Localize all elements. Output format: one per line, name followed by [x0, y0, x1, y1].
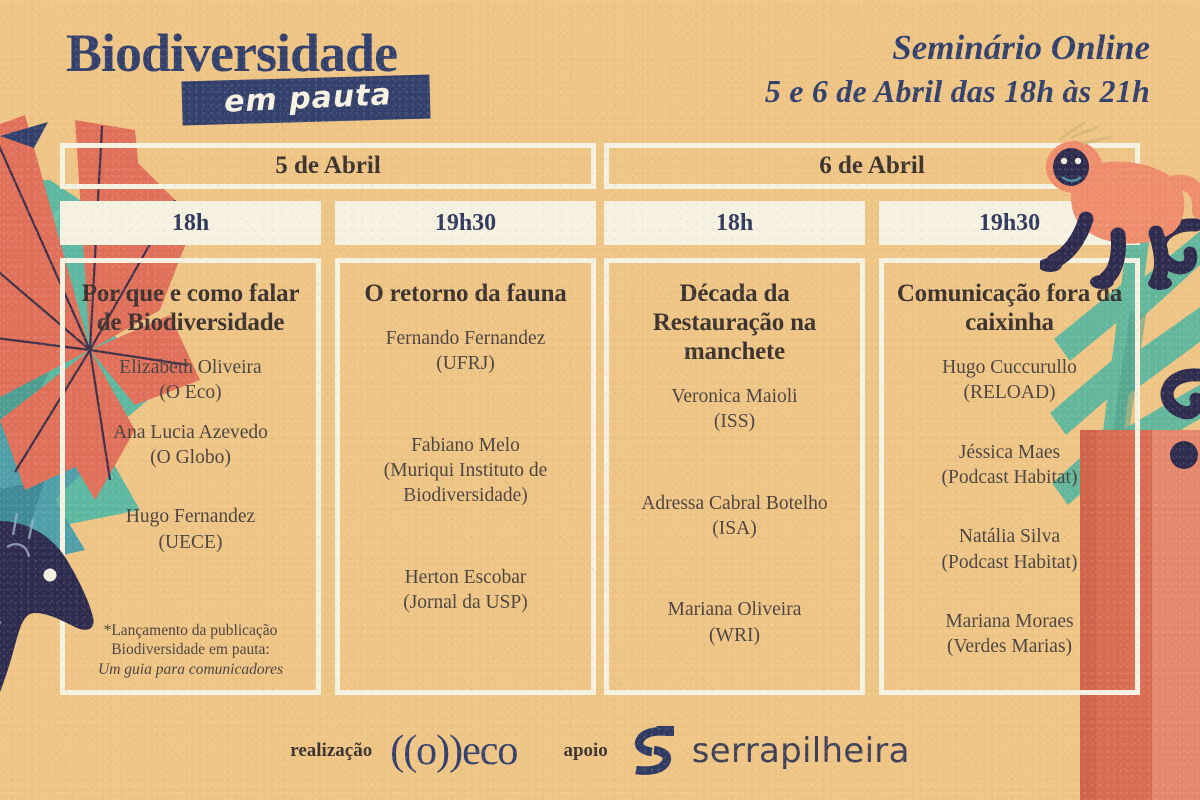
session-slot-1[interactable]: 18h Por que e como falar de Biodiversida… — [60, 201, 321, 695]
time-header: 19h30 — [879, 201, 1140, 245]
list-item: Veronica Maioli (ISS) — [621, 384, 848, 435]
date-header-2: 6 de Abril — [604, 143, 1140, 189]
speaker-list: Veronica Maioli (ISS) Adressa Cabral Bot… — [621, 384, 848, 680]
speaker-affiliation: (WRI) — [621, 623, 848, 648]
list-item: Fabiano Melo (Muriqui Instituto de Biodi… — [352, 433, 579, 509]
date-label: 6 de Abril — [819, 152, 925, 180]
speaker-affiliation: (Muriqui Instituto de Biodiversidade) — [352, 458, 579, 509]
speaker-name: Mariana Oliveira — [668, 599, 802, 620]
speaker-name: Natália Silva — [959, 526, 1060, 547]
session-slot-3[interactable]: 18h Década da Restauração na manchete Ve… — [604, 201, 865, 695]
apoio-group: apoio serrapilheira — [563, 722, 909, 780]
session-title: O retorno da fauna — [352, 279, 579, 308]
speaker-affiliation: (O Globo) — [77, 445, 304, 470]
time-label: 19h30 — [979, 210, 1040, 237]
speaker-affiliation: (Jornal da USP) — [352, 590, 579, 615]
list-item: Herton Escobar (Jornal da USP) — [352, 565, 579, 616]
speaker-affiliation: (ISS) — [621, 409, 848, 434]
footnote-line-2: Biodiversidade em pauta: — [111, 641, 269, 658]
day-column-1: 5 de Abril 18h Por que e como falar de B… — [60, 143, 596, 189]
session-slot-4[interactable]: 19h30 Comunicação fora da caixinha Hugo … — [879, 201, 1140, 695]
speaker-name: Herton Escobar — [405, 567, 527, 588]
realizacao-label: realização — [290, 740, 372, 762]
speaker-name: Ana Lucia Azevedo — [113, 422, 268, 443]
speaker-affiliation: (Podcast Habitat) — [896, 465, 1123, 490]
speaker-name: Veronica Maioli — [671, 386, 797, 407]
speaker-name: Elizabeth Oliveira — [119, 357, 261, 378]
speaker-list: Elizabeth Oliveira (O Eco) Ana Lucia Aze… — [77, 355, 304, 680]
speaker-name: Fabiano Melo — [411, 435, 520, 456]
date-label: 5 de Abril — [275, 152, 381, 180]
seminar-type: Seminário Online — [765, 26, 1150, 70]
list-item: Jéssica Maes (Podcast Habitat) — [896, 440, 1123, 491]
list-item: Ana Lucia Azevedo (O Globo) — [77, 420, 304, 471]
apoio-label: apoio — [563, 740, 607, 762]
time-header: 18h — [604, 201, 865, 245]
speaker-list: Fernando Fernandez (UFRJ) Fabiano Melo (… — [352, 326, 579, 680]
speaker-affiliation: (UECE) — [77, 530, 304, 555]
session-card[interactable]: Por que e como falar de Biodiversidade E… — [60, 258, 321, 695]
day-column-2: 6 de Abril 18h Década da Restauração na … — [604, 143, 1140, 189]
session-title: Comunicação fora da caixinha — [896, 279, 1123, 337]
session-title: Década da Restauração na manchete — [621, 279, 848, 366]
speaker-affiliation: (UFRJ) — [352, 351, 579, 376]
oeco-logo[interactable]: ((o))eco — [390, 730, 517, 772]
time-label: 19h30 — [435, 210, 496, 237]
list-item: Mariana Oliveira (WRI) — [621, 597, 848, 648]
speaker-name: Adressa Cabral Botelho — [641, 493, 827, 514]
session-card[interactable]: Comunicação fora da caixinha Hugo Cuccur… — [879, 258, 1140, 695]
time-label: 18h — [716, 210, 753, 237]
date-header-1: 5 de Abril — [60, 143, 596, 189]
session-card[interactable]: Década da Restauração na manchete Veroni… — [604, 258, 865, 695]
schedule-grid: 5 de Abril 18h Por que e como falar de B… — [0, 143, 1200, 703]
footnote-line-1: *Lançamento da publicação — [104, 622, 278, 639]
speaker-name: Mariana Moraes — [945, 611, 1073, 632]
speaker-affiliation: (Verdes Marias) — [896, 634, 1123, 659]
speaker-affiliation: (O Eco) — [77, 380, 304, 405]
footnote-line-3: Um guia para comunicadores — [77, 660, 304, 680]
speaker-list: Hugo Cuccurullo (RELOAD) Jéssica Maes (P… — [896, 355, 1123, 680]
list-item: Natália Silva (Podcast Habitat) — [896, 524, 1123, 575]
speaker-name: Fernando Fernandez — [386, 328, 546, 349]
session-footnote: *Lançamento da publicação Biodiversidade… — [77, 621, 304, 680]
seminar-info: Seminário Online 5 e 6 de Abril das 18h … — [765, 26, 1150, 112]
poster-canvas: Biodiversidade em pauta Seminário Online… — [0, 0, 1200, 800]
realizacao-group: realização ((o))eco — [290, 730, 517, 772]
list-item: Mariana Moraes (Verdes Marias) — [896, 609, 1123, 660]
speaker-affiliation: (Podcast Habitat) — [896, 550, 1123, 575]
list-item: Fernando Fernandez (UFRJ) — [352, 326, 579, 377]
list-item: Elizabeth Oliveira (O Eco) — [77, 355, 304, 406]
page-title: Biodiversidade — [66, 22, 397, 84]
serrapilheira-wordmark: serrapilheira — [692, 734, 910, 768]
session-title: Por que e como falar de Biodiversidade — [77, 279, 304, 337]
list-item: Adressa Cabral Botelho (ISA) — [621, 491, 848, 542]
list-item: Hugo Fernandez (UECE) — [77, 504, 304, 555]
poster-header: Biodiversidade em pauta Seminário Online… — [0, 0, 1200, 140]
speaker-name: Jéssica Maes — [959, 442, 1060, 463]
time-header: 19h30 — [335, 201, 596, 245]
time-header: 18h — [60, 201, 321, 245]
serrapilheira-logo[interactable]: serrapilheira — [626, 722, 910, 780]
list-item: Hugo Cuccurullo (RELOAD) — [896, 355, 1123, 406]
speaker-affiliation: (RELOAD) — [896, 380, 1123, 405]
session-slot-2[interactable]: 19h30 O retorno da fauna Fernando Fernan… — [335, 201, 596, 695]
seminar-dates: 5 e 6 de Abril das 18h às 21h — [765, 70, 1150, 112]
speaker-affiliation: (ISA) — [621, 516, 848, 541]
session-card[interactable]: O retorno da fauna Fernando Fernandez (U… — [335, 258, 596, 695]
speaker-name: Hugo Fernandez — [126, 506, 255, 527]
poster-footer: realização ((o))eco apoio serrapilheira — [0, 716, 1200, 786]
speaker-name: Hugo Cuccurullo — [942, 357, 1077, 378]
serrapilheira-mark-icon — [626, 722, 680, 780]
time-label: 18h — [172, 210, 209, 237]
